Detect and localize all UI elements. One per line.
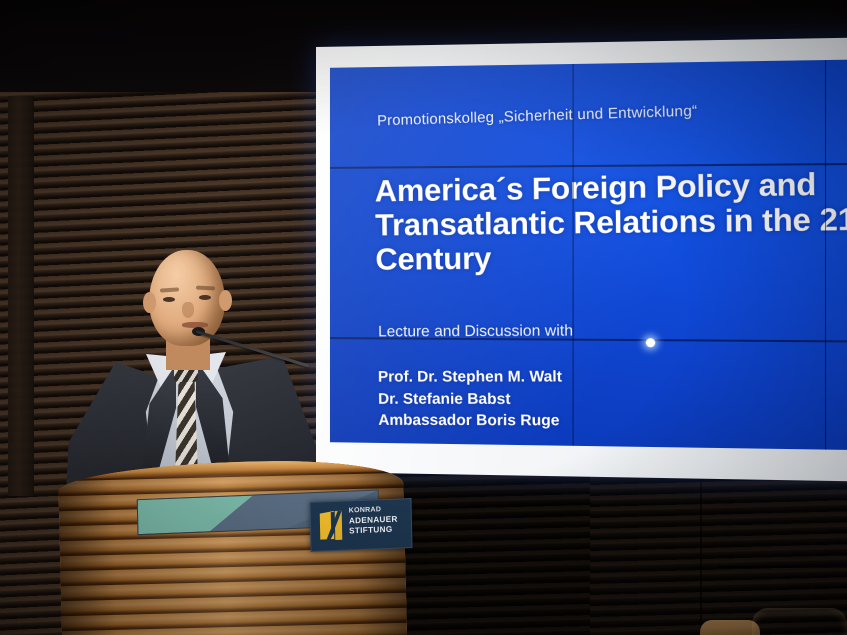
eye-left — [163, 297, 175, 302]
eye-right — [199, 295, 211, 300]
nose — [182, 302, 194, 318]
panel-seam-vertical-2 — [825, 60, 827, 450]
plaque-teal-section — [138, 496, 254, 535]
ear-left — [143, 292, 156, 313]
presentation-slide: Promotionskolleg „Sicherheit und Entwick… — [330, 59, 847, 450]
panel-seam-vertical-1 — [572, 64, 574, 446]
lecture-photo-scene: Promotionskolleg „Sicherheit und Entwick… — [0, 0, 847, 635]
head — [149, 250, 225, 346]
kas-logo-line-3: STIFTUNG — [349, 525, 398, 537]
kas-logo-line-1: KONRAD — [349, 506, 398, 517]
slide-kicker: Promotionskolleg „Sicherheit und Entwick… — [377, 103, 698, 129]
ear-right — [219, 290, 232, 311]
chair-foreground — [752, 608, 847, 635]
chair-secondary — [700, 620, 760, 635]
wall-seam-vertical — [700, 470, 702, 635]
konrad-adenauer-stiftung-logo: KONRAD ADENAUER STIFTUNG — [310, 498, 413, 552]
video-wall-display: Promotionskolleg „Sicherheit und Entwick… — [316, 37, 847, 481]
slide-speaker-list: Prof. Dr. Stephen M. Walt Dr. Stefanie B… — [378, 366, 563, 432]
laser-pointer-dot — [646, 338, 655, 347]
kas-logo-text: KONRAD ADENAUER STIFTUNG — [349, 506, 398, 538]
slide-title: America´s Foreign Policy and Transatlant… — [375, 165, 847, 278]
wall-seam-horizontal — [718, 566, 847, 568]
kas-wedge-icon — [318, 509, 345, 542]
